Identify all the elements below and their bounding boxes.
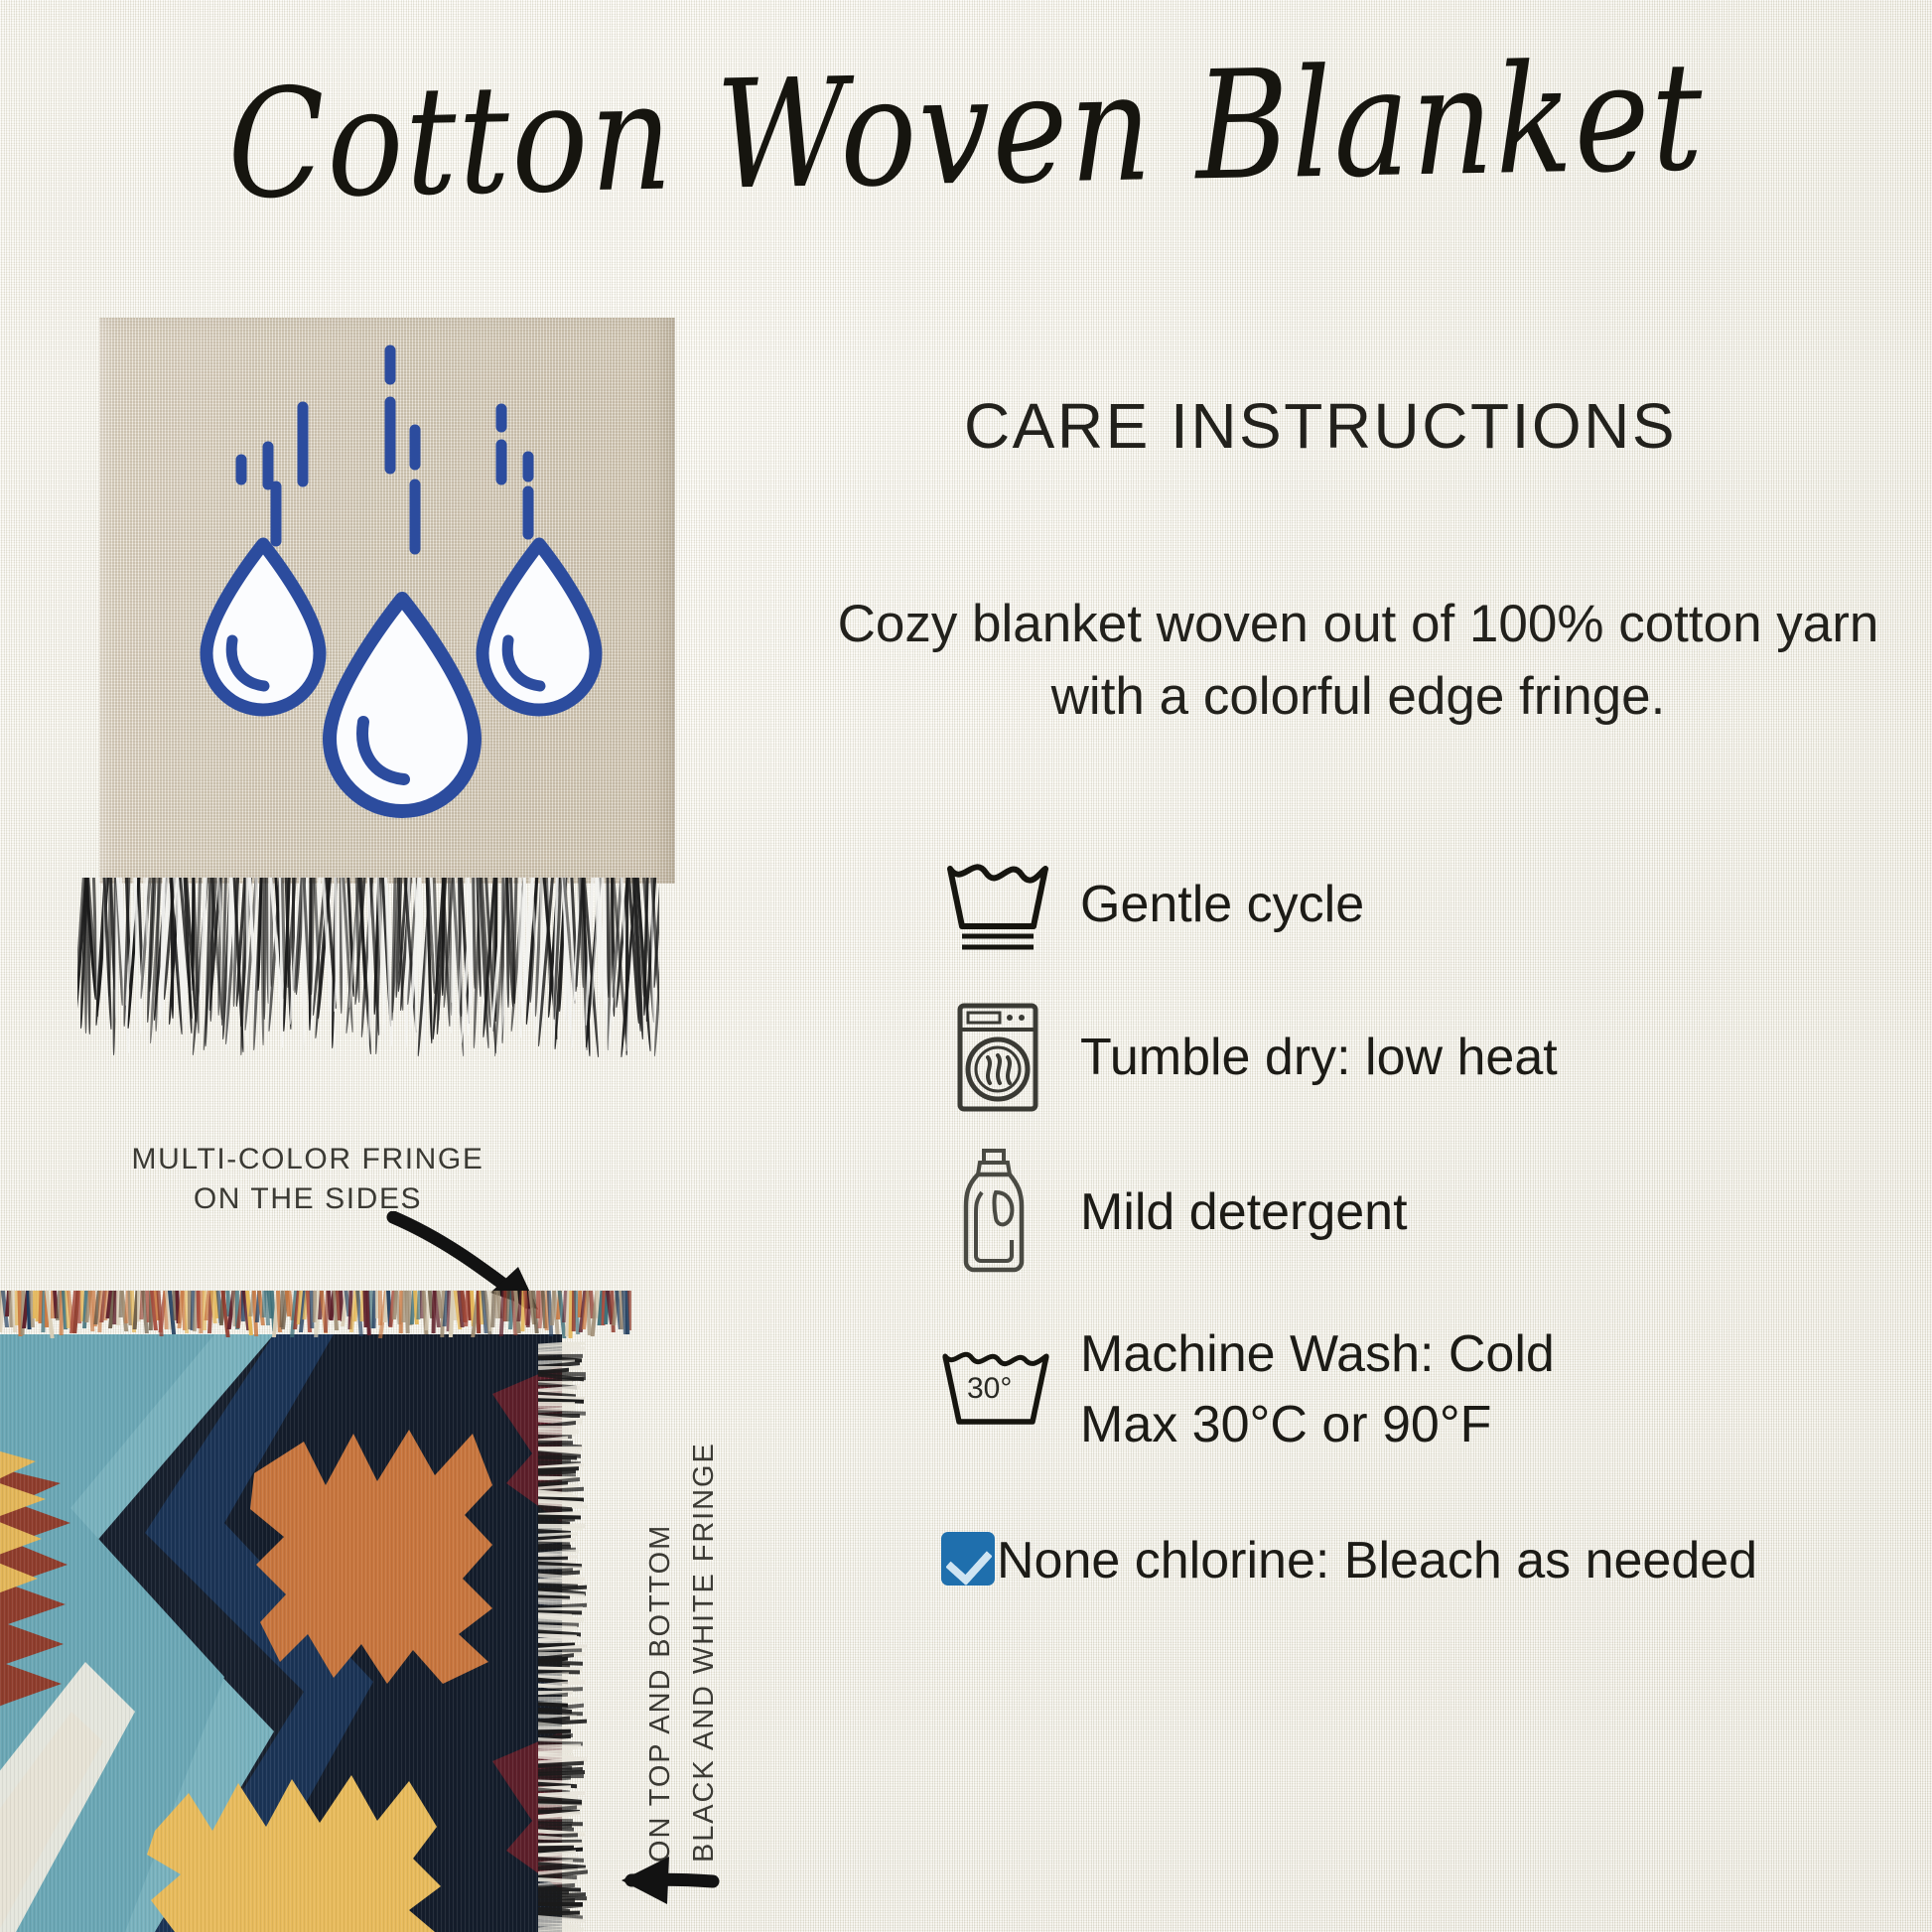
care-item-none-chlorine-bleach: None chlorine: Bleach as needed [923,1525,1896,1636]
caption-multicolor-line1: MULTI-COLOR FRINGE [60,1140,556,1179]
care-item-label: Machine Wash: Cold Max 30°C or 90°F [1072,1319,1555,1459]
caption-multicolor-fringe: MULTI-COLOR FRINGE ON THE SIDES [60,1140,556,1218]
blanket-product-photo [99,318,675,884]
tumble-dry-machine-icon [923,1002,1072,1113]
blanket-bottom-fringe [77,878,659,1062]
water-droplet-icon [99,318,675,884]
care-item-gentle-cycle: Gentle cycle [923,849,1896,960]
wash-tub-30-degrees-icon: 30° [923,1334,1072,1446]
caption-bw-fringe: BLACK AND WHITE FRINGE ON TOP AND BOTTOM [663,1356,757,1863]
caption-bw-line2: ON TOP AND BOTTOM [644,1356,677,1863]
care-item-label: Mild detergent [1072,1177,1408,1248]
wash-tub-gentle-cycle-icon [923,849,1072,960]
care-item-label: Tumble dry: low heat [1072,1023,1558,1093]
poster-canvas: Cotton Woven Blanket [0,0,1932,1932]
wash-temperature-label: 30° [967,1372,1012,1405]
machine-wash-line1: Machine Wash: Cold [1080,1319,1555,1390]
care-item-mild-detergent: Mild detergent [923,1157,1896,1268]
care-item-label: None chlorine: Bleach as needed [997,1532,1757,1589]
care-item-label: Gentle cycle [1072,870,1364,940]
caption-bw-line1: BLACK AND WHITE FRINGE [688,1356,721,1863]
detergent-bottle-icon [923,1157,1072,1268]
rug-multicolor-fringe-top [0,1291,631,1338]
aztec-woven-rug-photo [0,1291,631,1932]
rug-aztec-pattern [0,1334,562,1932]
page-title: Cotton Woven Blanket [0,26,1932,237]
machine-wash-line2: Max 30°C or 90°F [1080,1390,1555,1460]
care-item-tumble-dry: Tumble dry: low heat [923,1002,1896,1113]
care-instructions-list: Gentle cycle [923,849,1896,1636]
product-description: Cozy blanket woven out of 100% cotton ya… [832,588,1884,733]
care-item-machine-wash-cold: 30° Machine Wash: Cold Max 30°C or 90°F [923,1319,1896,1459]
rug-pattern-area [0,1334,562,1932]
blue-check-box-icon [941,1532,995,1586]
rug-bw-fringe-right [538,1342,590,1932]
care-instructions-heading: CARE INSTRUCTIONS [774,389,1866,463]
